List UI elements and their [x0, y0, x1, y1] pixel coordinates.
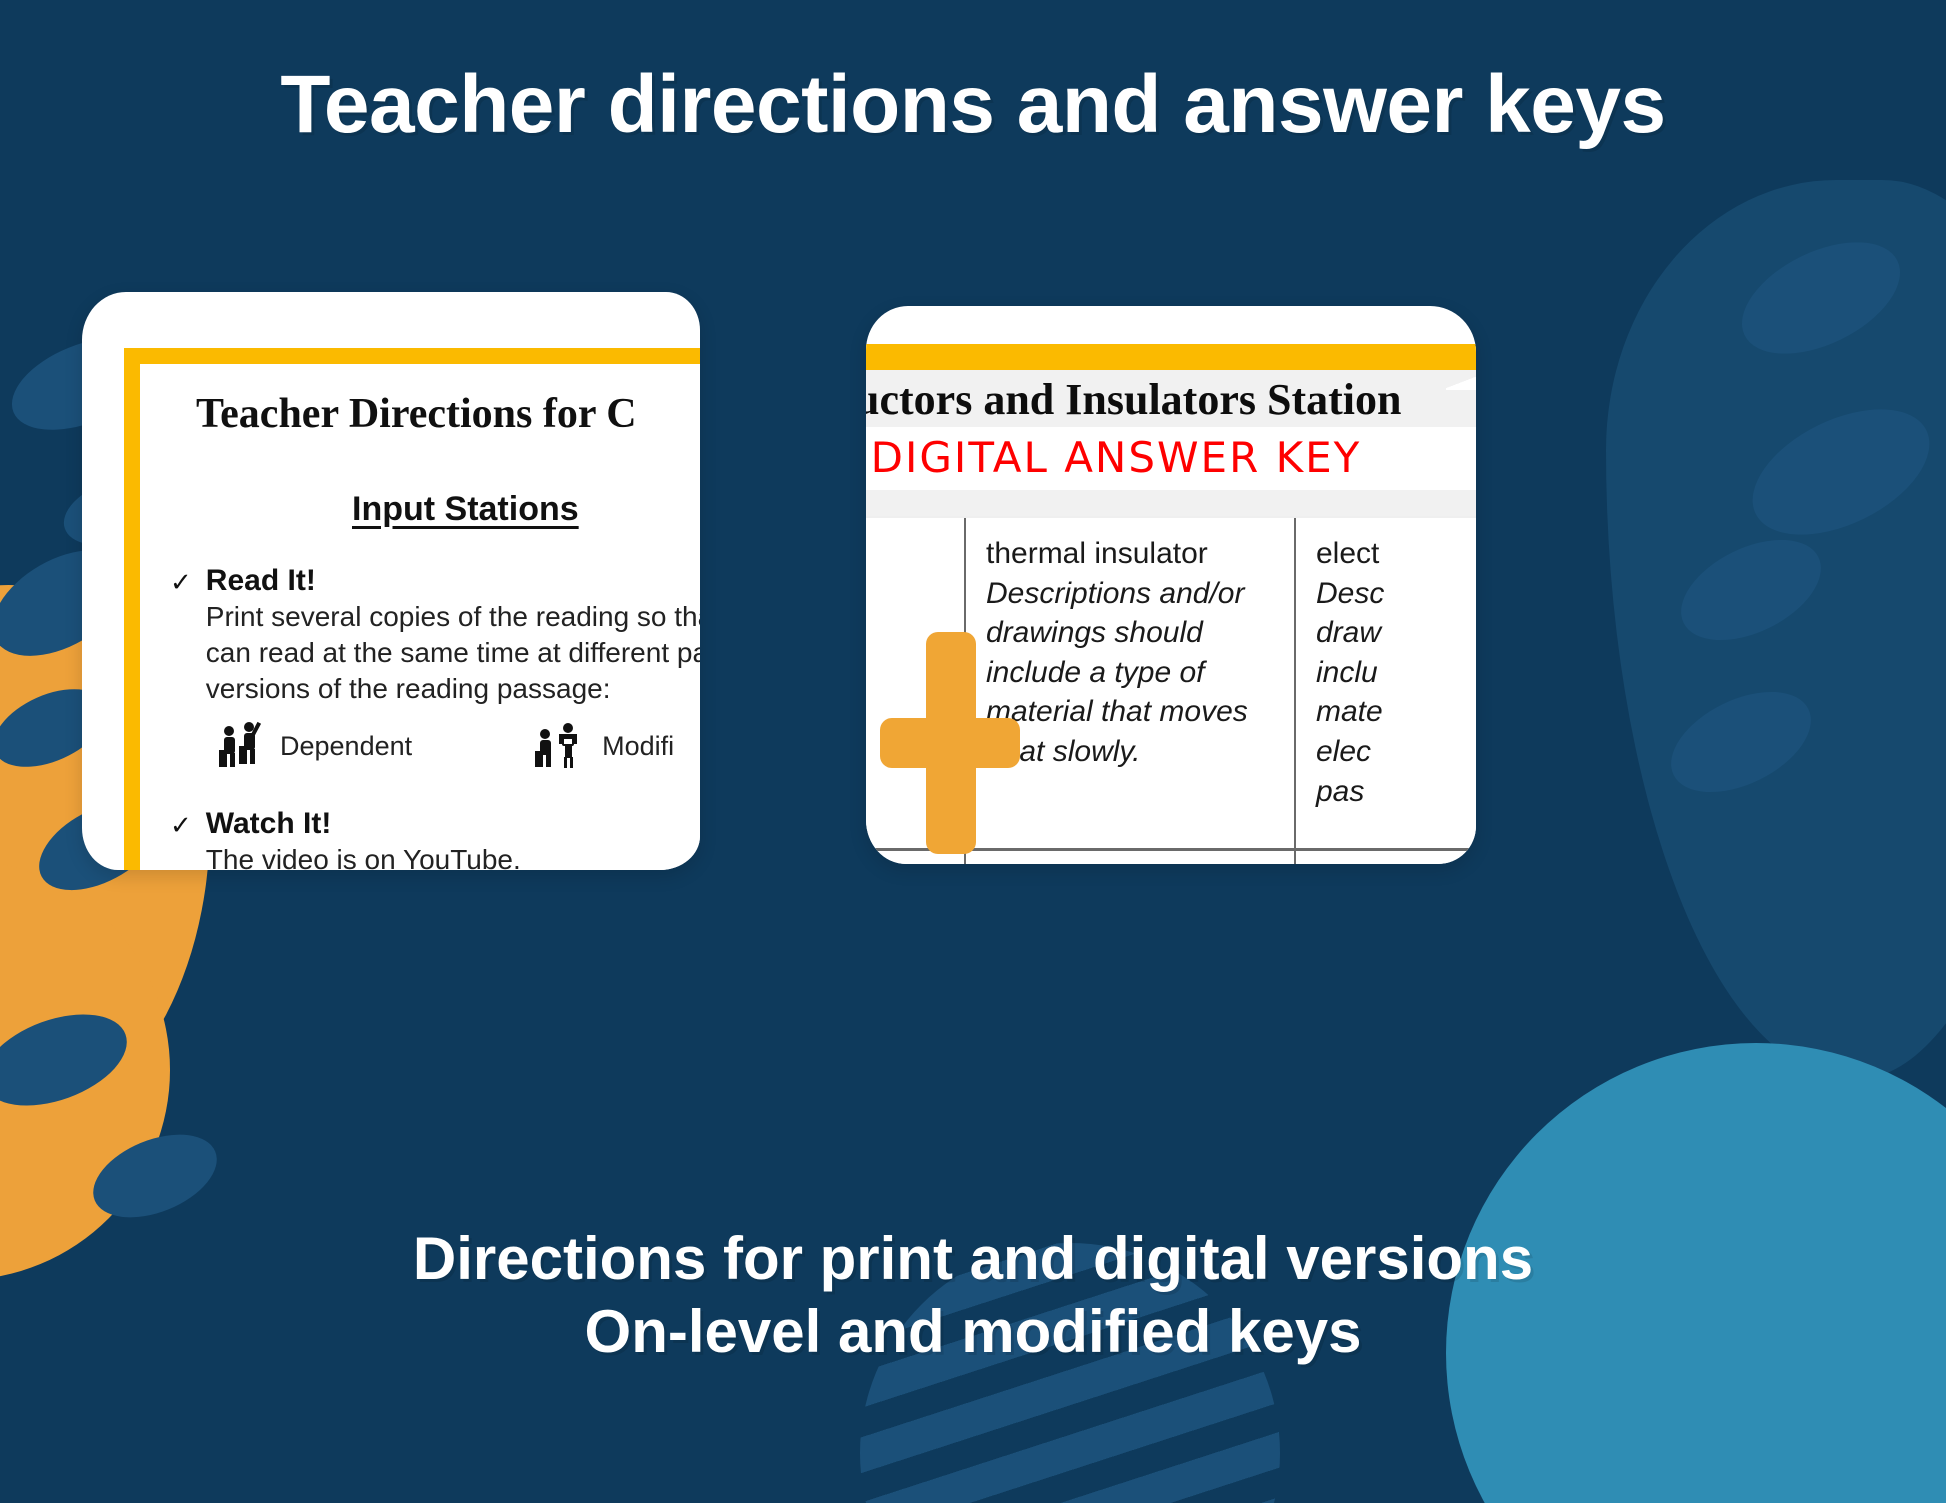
two-students-icon: [214, 720, 266, 772]
read-it-line-1: Print several copies of the reading so t…: [206, 599, 700, 635]
oval-decoration-7: [81, 1118, 229, 1233]
read-it-line-3: versions of the reading passage:: [206, 671, 700, 707]
oval-decoration-9: [1733, 384, 1946, 561]
table-cell-2-desc-3: material that moves: [986, 692, 1278, 732]
table-cell-3-term: elect: [1316, 534, 1476, 574]
table-cell-3-desc-5: pas: [1316, 772, 1476, 812]
read-it-line-2: can read at the same time at different p…: [206, 635, 700, 671]
teacher-directions-page: Teacher Directions for C Input Stations …: [124, 348, 700, 870]
oval-decoration-11: [1655, 671, 1827, 812]
orange-blob-left-lower-decoration: [0, 860, 170, 1280]
watch-it-label: Watch It!: [206, 806, 700, 842]
reading-variants-row: Dependent: [214, 720, 700, 772]
watch-it-bullet: ✓ Watch It! The video is on YouTube.: [170, 806, 700, 870]
table-cell-3-desc-2: inclu: [1316, 653, 1476, 693]
plus-icon: [880, 632, 1020, 854]
oval-decoration-8: [1724, 219, 1917, 376]
answer-key-doc-title: ductors and Insulators Station: [866, 375, 1401, 424]
variant-dependent: Dependent: [214, 720, 412, 772]
teacher-directions-doc-title: Teacher Directions for C: [196, 390, 700, 438]
slide-canvas: Teacher directions and answer keys Teach…: [0, 0, 1946, 1503]
variant-dependent-label: Dependent: [280, 731, 412, 762]
table-cell-2-desc-1: drawings should: [986, 613, 1278, 653]
read-it-label: Read It!: [206, 563, 700, 599]
footer-line-1: Directions for print and digital version…: [0, 1222, 1946, 1295]
table-cell-2-desc-0: Descriptions and/or: [986, 574, 1278, 614]
input-stations-heading: Input Stations: [352, 490, 579, 529]
teacher-and-student-icon: [532, 720, 588, 772]
table-cell-3: elect Desc draw inclu mate elec pas: [1296, 518, 1476, 848]
page-title: Teacher directions and answer keys: [0, 62, 1946, 148]
table-cell-3-desc-4: elec: [1316, 732, 1476, 772]
table-cell-1-term: ductor: [866, 534, 948, 574]
checkmark-icon: ✓: [170, 563, 192, 595]
oval-decoration-6: [0, 997, 139, 1123]
table-cell-3-desc-0: Desc: [1316, 574, 1476, 614]
variant-modified-label: Modifi: [602, 731, 674, 762]
navy-blob-right-decoration: [1606, 180, 1946, 1080]
answer-key-yellow-bar: [866, 344, 1476, 370]
digital-answer-key-label: DIGITAL ANSWER KEY: [866, 427, 1476, 490]
table-cell-3-desc-1: draw: [1316, 613, 1476, 653]
teacher-directions-card[interactable]: Teacher Directions for C Input Stations …: [82, 292, 700, 870]
table-cell-3-desc-3: mate: [1316, 692, 1476, 732]
table-cell-1-desc-0: and/or: [866, 574, 948, 614]
table-cell-2-desc-2: include a type of: [986, 653, 1278, 693]
oval-decoration-10: [1665, 519, 1837, 660]
table-cell-2-desc-4: heat slowly.: [986, 732, 1278, 772]
table-row2-cell-3: E: [1296, 851, 1476, 864]
answer-key-title-band: ductors and Insulators Station: [866, 370, 1476, 427]
read-it-bullet: ✓ Read It! Print several copies of the r…: [170, 563, 700, 706]
table-cell-2-term: thermal insulator: [986, 534, 1278, 574]
watch-it-line-1: The video is on YouTube.: [206, 842, 700, 870]
answer-key-spacer: [866, 490, 1476, 516]
footer-line-2: On-level and modified keys: [0, 1295, 1946, 1368]
footer-subtitle: Directions for print and digital version…: [0, 1222, 1946, 1368]
checkmark-icon: ✓: [170, 806, 192, 838]
variant-modified: Modifi: [532, 720, 674, 772]
